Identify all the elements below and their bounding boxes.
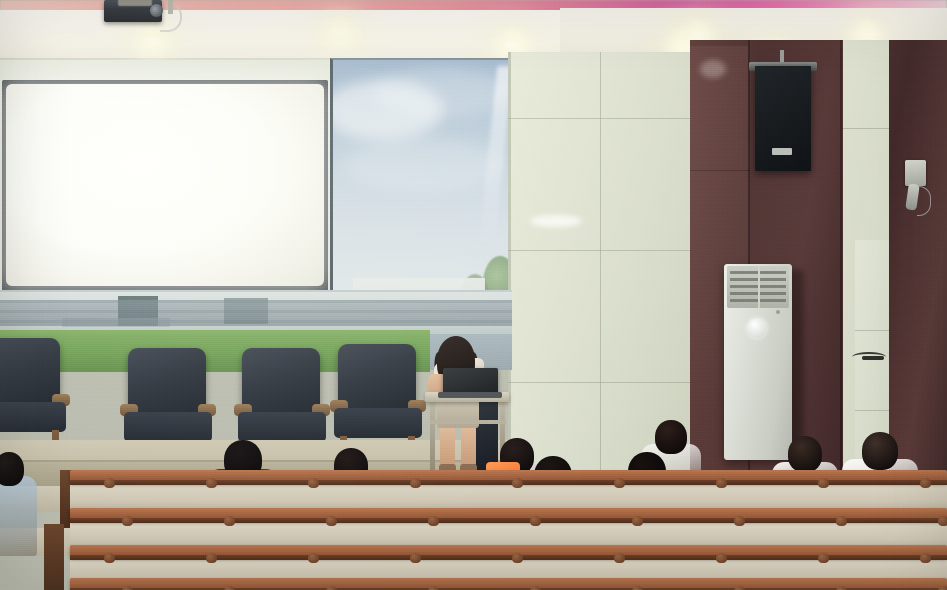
air-conditioner-led <box>776 310 780 314</box>
bench-row-2-peg <box>122 516 133 526</box>
bench-row-1-peg <box>920 478 931 488</box>
wood-seam-h <box>690 170 750 171</box>
student-back-left-head <box>655 420 687 454</box>
bench-row-3-peg <box>410 553 421 563</box>
bench-row-2-peg <box>428 516 439 526</box>
bench-row-4-peg <box>836 586 847 590</box>
wood-seam-2 <box>840 40 842 495</box>
bench-row-1-peg <box>716 478 727 488</box>
bench-row-1-peg <box>410 478 421 488</box>
bench-row-4-peg <box>428 586 439 590</box>
bench-row-2-peg <box>938 516 947 526</box>
bench-row-2-peg <box>734 516 745 526</box>
presenter-leg-left <box>440 424 455 468</box>
chair-seat <box>334 408 422 438</box>
bench-row-3-peg <box>512 553 523 563</box>
chair-seat <box>124 412 212 442</box>
tile-strip-grout-2 <box>855 330 889 331</box>
bench-row-1-peg <box>104 478 115 488</box>
bench-row-3-peg <box>308 553 319 563</box>
chair-backrest <box>242 348 320 420</box>
air-conditioner-shadow <box>790 270 804 462</box>
bench-row-1-peg <box>818 478 829 488</box>
bench-row-2-peg <box>326 516 337 526</box>
bench-row-2-peg <box>632 516 643 526</box>
bench-row-1-peg <box>512 478 523 488</box>
projection-screen <box>6 84 324 286</box>
chair-backrest <box>338 344 416 416</box>
student-glasses-head <box>862 432 898 470</box>
chair-backrest <box>128 348 206 420</box>
bench-row-1-peg <box>308 478 319 488</box>
wall-cable-connector <box>862 356 884 360</box>
bench-row-1-step-face <box>70 483 947 509</box>
bench-row-2-step-face <box>70 521 947 547</box>
bench-row-4-peg <box>326 586 337 590</box>
speaker-icon <box>755 66 811 171</box>
bench-row-4-peg <box>632 586 643 590</box>
stair-side-panel-2 <box>44 524 64 590</box>
speaker-badge <box>772 148 792 155</box>
bench-row-1-rail <box>70 480 947 485</box>
student-left-blue-head <box>0 452 24 486</box>
wall-phone-icon <box>905 160 926 186</box>
desk-rail <box>430 420 506 424</box>
projector-mount-plate <box>118 0 152 6</box>
bench-row-2-peg <box>224 516 235 526</box>
bench-row-4-peg <box>938 586 947 590</box>
backdrop-road <box>0 300 512 326</box>
chair-seat <box>0 402 66 432</box>
bench-row-4-peg <box>734 586 745 590</box>
air-conditioner-grille-divider <box>758 266 760 308</box>
bench-row-1-peg <box>614 478 625 488</box>
lecture-hall-photo: A woman presents at a small desk with a … <box>0 0 947 590</box>
wood-wall-reflection <box>700 60 726 78</box>
presenter-leg-right <box>461 424 476 468</box>
bench-row-3-peg <box>716 553 727 563</box>
downlight-2-glow <box>328 17 352 49</box>
bench-row-3-rail <box>70 555 947 560</box>
bench-row-4-peg <box>224 586 235 590</box>
bench-row-2-rail <box>70 518 947 523</box>
bench-row-3-peg <box>206 553 217 563</box>
bench-row-3-peg <box>920 553 931 563</box>
projector-bracket <box>168 0 173 14</box>
tile-strip-grout-3 <box>855 410 889 411</box>
tile-wall-reflection <box>530 215 582 227</box>
tile-grout-h1 <box>508 118 694 119</box>
bench-row-2-peg <box>530 516 541 526</box>
bench-row-3-peg <box>104 553 115 563</box>
tile-grout-h2 <box>508 250 694 251</box>
tile-grout-h3 <box>508 382 694 383</box>
tile-strip-grout-1 <box>843 128 889 129</box>
bench-row-1-peg <box>206 478 217 488</box>
desk-leg-left <box>430 400 435 470</box>
student-left-blue-body <box>0 476 37 556</box>
chair-seat <box>238 412 326 442</box>
bench-row-4-peg <box>530 586 541 590</box>
student-white-tee-head <box>788 436 822 472</box>
bench-row-3-peg <box>614 553 625 563</box>
bench-row-2-peg <box>836 516 847 526</box>
bench-row-3-peg <box>818 553 829 563</box>
air-conditioner-display <box>747 318 767 338</box>
chair-backrest <box>0 338 60 410</box>
bench-row-4-peg <box>122 586 133 590</box>
laptop-base <box>438 392 502 398</box>
